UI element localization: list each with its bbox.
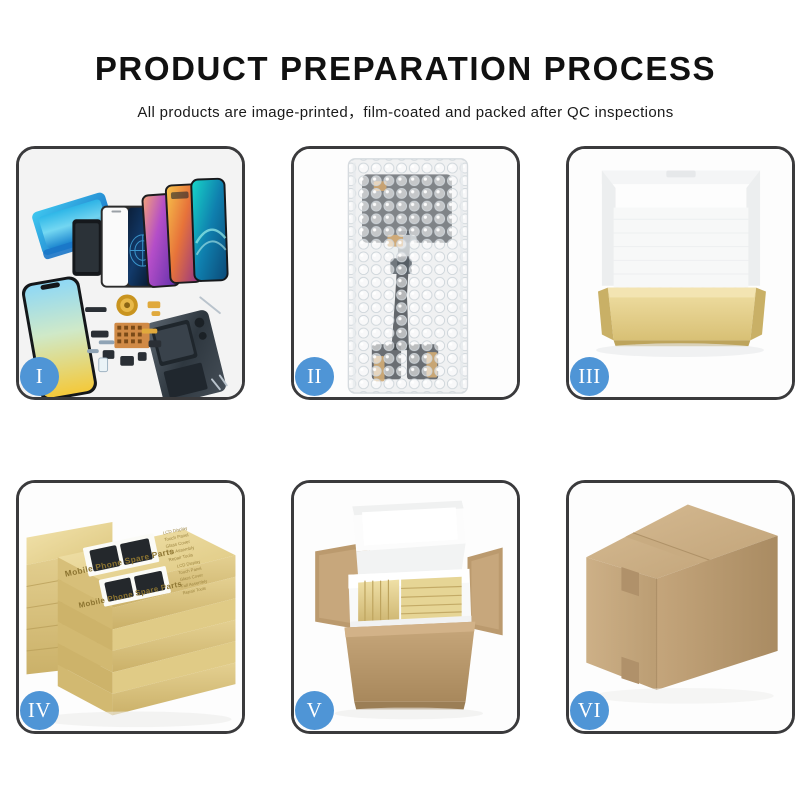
sealed-carton-image xyxy=(569,483,792,731)
process-steps-grid: I xyxy=(16,146,795,734)
step-badge-4: IV xyxy=(20,691,59,730)
step-badge-2: II xyxy=(295,357,334,396)
bubble-wrap-packing-image xyxy=(294,149,517,397)
spare-parts-assortment-image xyxy=(19,149,242,397)
process-step-card-4: Mobile Phone Spare Parts LCD Display Tou… xyxy=(16,480,245,734)
page-title: PRODUCT PREPARATION PROCESS xyxy=(0,0,811,85)
header: PRODUCT PREPARATION PROCESS All products… xyxy=(0,0,811,122)
inner-box-packing-image xyxy=(569,149,792,397)
carton-loading-image xyxy=(294,483,517,731)
step-badge-6: VI xyxy=(570,691,609,730)
step-badge-1: I xyxy=(20,357,59,396)
process-step-card-5: V xyxy=(291,480,520,734)
process-step-card-1: I xyxy=(16,146,245,400)
page-subtitle: All products are image-printed，film-coat… xyxy=(0,85,811,122)
boxes-stacked-image: Mobile Phone Spare Parts LCD Display Tou… xyxy=(19,483,242,731)
process-step-card-6: VI xyxy=(566,480,795,734)
process-step-card-3: III xyxy=(566,146,795,400)
step-badge-5: V xyxy=(295,691,334,730)
product-preparation-infographic: PRODUCT PREPARATION PROCESS All products… xyxy=(0,0,811,811)
step-badge-3: III xyxy=(570,357,609,396)
process-step-card-2: II xyxy=(291,146,520,400)
